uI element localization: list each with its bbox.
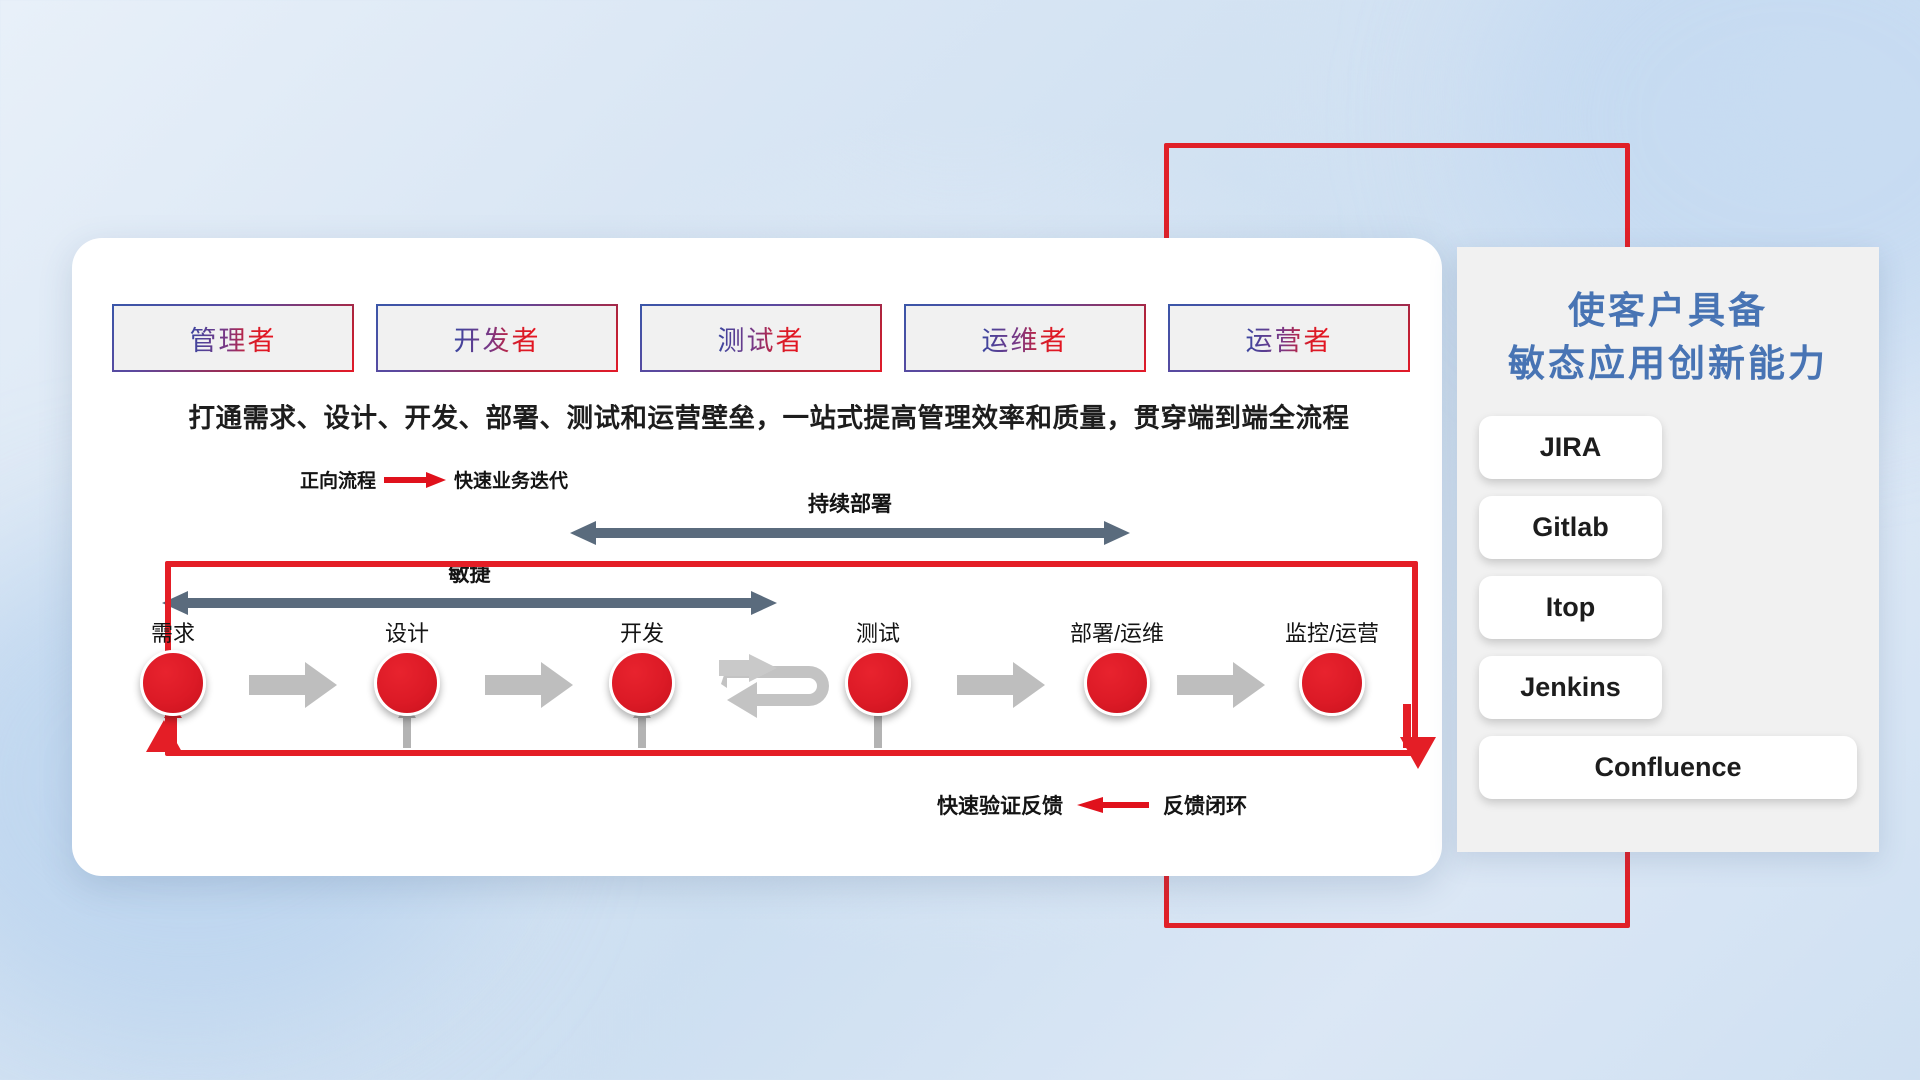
pipeline-stage-monitor-operations[interactable]: 监控/运营 [1257,616,1407,716]
role-label: 运营者 [1246,319,1333,358]
stage-dot [1084,650,1150,716]
role-label: 管理者 [190,319,277,358]
stage-dot [845,650,911,716]
block-arrow-icon [957,662,1045,708]
uturn-cycle-arrow-icon [719,654,839,720]
continuous-deployment-group: 持续部署 [570,488,1130,551]
tool-pill-gitlab[interactable]: Gitlab [1479,496,1662,559]
forward-flow-right-label: 快速业务迭代 [454,466,568,493]
panel-title-line1: 使客户具备 [1457,285,1879,338]
left-arrow-icon [1077,795,1149,815]
block-arrow-icon [485,662,573,708]
forward-flow-left-label: 正向流程 [300,466,376,493]
main-diagram-card: 管理者 开发者 测试者 运维者 运营者 打通需求、设计、开发、部署、测试和运营壁… [72,238,1442,876]
stage-label: 监控/运营 [1257,616,1407,648]
stage-dot [1299,650,1365,716]
forward-flow-caption: 正向流程 快速业务迭代 [300,466,568,493]
role-box-tester[interactable]: 测试者 [640,304,882,372]
right-arrow-icon [384,470,446,490]
stage-label: 测试 [803,616,953,648]
stage-label: 设计 [332,616,482,648]
feedback-left-label: 快速验证反馈 [937,790,1063,820]
tool-pill-grid: JIRA Gitlab Itop Jenkins Confluence [1479,416,1857,799]
tool-pill-confluence[interactable]: Confluence [1479,736,1857,799]
block-arrow-icon [249,662,337,708]
role-box-operations[interactable]: 运营者 [1168,304,1410,372]
stage-label: 需求 [98,616,248,648]
feedback-caption: 快速验证反馈 反馈闭环 [937,790,1247,820]
stage-label: 部署/运维 [1042,616,1192,648]
block-arrow-icon [1177,662,1265,708]
feedback-right-label: 反馈闭环 [1163,790,1247,820]
tool-pill-jenkins[interactable]: Jenkins [1479,656,1662,719]
stage-label: 开发 [567,616,717,648]
continuous-deployment-label: 持续部署 [570,488,1130,518]
role-label: 运维者 [982,319,1069,358]
value-panel: 使客户具备 敏态应用创新能力 JIRA Gitlab Itop Jenkins … [1457,247,1879,852]
role-box-ops[interactable]: 运维者 [904,304,1146,372]
role-label: 测试者 [718,319,805,358]
stage-dot [374,650,440,716]
pipeline-stage-demand[interactable]: 需求 [98,616,248,716]
stage-dot [609,650,675,716]
panel-title-line2: 敏态应用创新能力 [1457,338,1879,391]
role-box-row: 管理者 开发者 测试者 运维者 运营者 [112,304,1410,372]
pipeline-stage-design[interactable]: 设计 [332,616,482,716]
tool-pill-jira[interactable]: JIRA [1479,416,1662,479]
role-box-manager[interactable]: 管理者 [112,304,354,372]
role-label: 开发者 [454,319,541,358]
pipeline-stage-deploy-ops[interactable]: 部署/运维 [1042,616,1192,716]
headline-text: 打通需求、设计、开发、部署、测试和运营壁垒，一站式提高管理效率和质量，贯穿端到端… [124,396,1414,435]
panel-title: 使客户具备 敏态应用创新能力 [1457,247,1879,390]
stage-dot [140,650,206,716]
double-arrow-icon [570,520,1130,546]
tool-pill-itop[interactable]: Itop [1479,576,1662,639]
pipeline-stage-develop[interactable]: 开发 [567,616,717,716]
pipeline-row: 需求 设计 开发 测试 部署/运维 监控/运营 [112,616,1412,746]
role-box-developer[interactable]: 开发者 [376,304,618,372]
